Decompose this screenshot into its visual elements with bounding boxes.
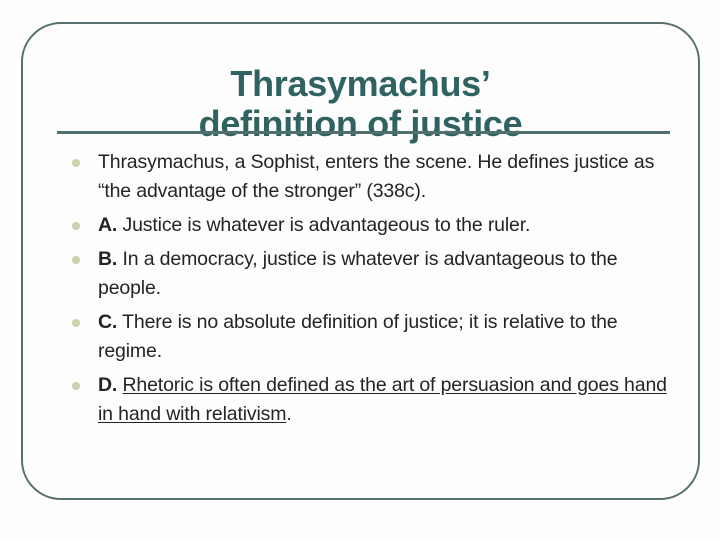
title-divider-rule bbox=[57, 131, 670, 134]
list-item: A. Justice is whatever is advantageous t… bbox=[68, 211, 678, 240]
bullet-dot-icon bbox=[72, 319, 80, 327]
slide-canvas: Thrasymachus’ definition of justice Thra… bbox=[0, 0, 720, 539]
slide-frame: Thrasymachus’ definition of justice Thra… bbox=[21, 22, 700, 500]
list-item-text: A. Justice is whatever is advantageous t… bbox=[98, 211, 678, 240]
title-line-2: definition of justice bbox=[23, 104, 698, 144]
list-item: C. There is no absolute definition of ju… bbox=[68, 308, 678, 366]
list-item: B. In a democracy, justice is whatever i… bbox=[68, 245, 678, 303]
list-item-text: Thrasymachus, a Sophist, enters the scen… bbox=[98, 148, 678, 206]
bullet-list: Thrasymachus, a Sophist, enters the scen… bbox=[68, 148, 678, 434]
list-item-text: B. In a democracy, justice is whatever i… bbox=[98, 245, 678, 303]
list-item-text: C. There is no absolute definition of ju… bbox=[98, 308, 678, 366]
list-item-label: D. bbox=[98, 374, 117, 396]
bullet-dot-icon bbox=[72, 222, 80, 230]
bullet-dot-icon bbox=[72, 382, 80, 390]
list-item: Thrasymachus, a Sophist, enters the scen… bbox=[68, 148, 678, 206]
list-item-body: Thrasymachus, a Sophist, enters the scen… bbox=[98, 151, 654, 202]
list-item-text: D. Rhetoric is often defined as the art … bbox=[98, 371, 678, 429]
list-item-body: Rhetoric is often defined as the art of … bbox=[98, 374, 667, 425]
bullet-dot-icon bbox=[72, 256, 80, 264]
list-item-trailing-punctuation: . bbox=[286, 403, 291, 425]
title-line-1: Thrasymachus’ bbox=[23, 64, 698, 104]
list-item-label: A. bbox=[98, 214, 117, 236]
list-item: D. Rhetoric is often defined as the art … bbox=[68, 371, 678, 429]
list-item-body: There is no absolute definition of justi… bbox=[98, 311, 617, 362]
list-item-body: In a democracy, justice is whatever is a… bbox=[98, 248, 617, 299]
bullet-dot-icon bbox=[72, 159, 80, 167]
list-item-body: Justice is whatever is advantageous to t… bbox=[122, 214, 530, 236]
list-item-label: B. bbox=[98, 248, 117, 270]
list-item-label: C. bbox=[98, 311, 117, 333]
